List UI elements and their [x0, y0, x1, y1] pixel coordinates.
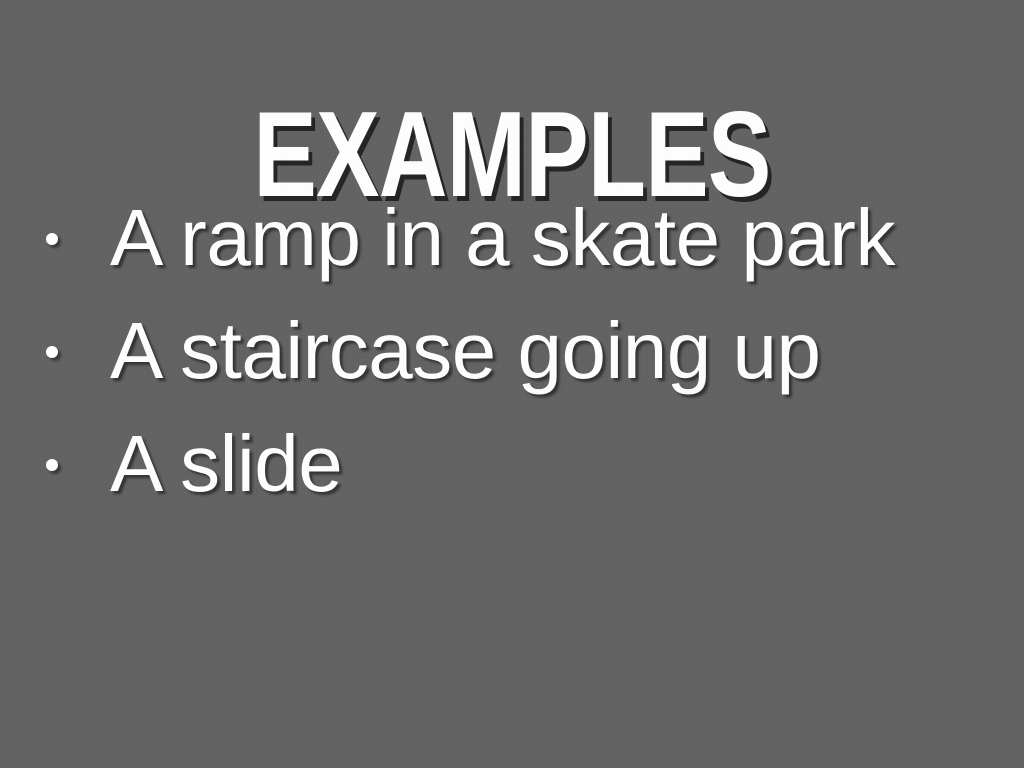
bullet-dot-icon	[46, 233, 58, 245]
bullet-dot-icon	[46, 346, 58, 358]
presentation-slide: EXAMPLES A ramp in a skate park A stairc…	[0, 0, 1024, 768]
list-item-label: A slide	[110, 416, 342, 512]
bullet-list: A ramp in a skate park A staircase going…	[0, 190, 1024, 529]
list-item: A slide	[0, 416, 1024, 529]
list-item: A staircase going up	[0, 303, 1024, 416]
list-item: A ramp in a skate park	[0, 190, 1024, 303]
list-item-label: A ramp in a skate park	[110, 190, 895, 286]
bullet-dot-icon	[46, 459, 58, 471]
list-item-label: A staircase going up	[110, 303, 820, 399]
